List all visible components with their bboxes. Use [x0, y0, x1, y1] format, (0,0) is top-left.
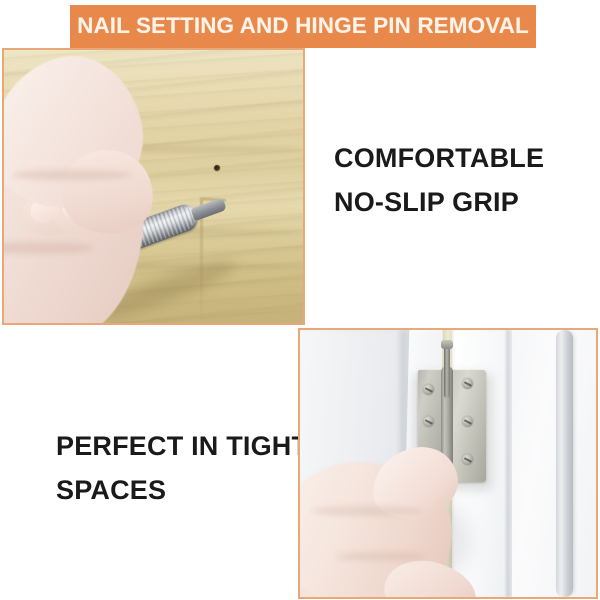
- feature-line-1: COMFORTABLE: [334, 136, 584, 180]
- feature-line-2: SPACES: [56, 468, 306, 512]
- hand-holding-tool: [4, 52, 204, 323]
- hinge-screw: [462, 416, 473, 427]
- banner-title-text: NAIL SETTING AND HINGE PIN REMOVAL: [77, 15, 529, 38]
- skin-crease: [312, 506, 422, 516]
- hinge-screw: [423, 416, 434, 427]
- infographic-page: NAIL SETTING AND HINGE PIN REMOVAL: [0, 0, 600, 600]
- title-banner: NAIL SETTING AND HINGE PIN REMOVAL: [70, 5, 536, 48]
- feature-text-comfortable-grip: COMFORTABLE NO-SLIP GRIP: [334, 136, 584, 224]
- door-bead-moulding: [556, 330, 573, 597]
- hinge-screw: [423, 384, 434, 395]
- nail-hole: [214, 165, 220, 171]
- feature-text-tight-spaces: PERFECT IN TIGHT SPACES: [56, 424, 306, 512]
- hinge-pin-head: [441, 340, 453, 349]
- photo-nail-setting-content: [4, 50, 303, 323]
- feature-line-2: NO-SLIP GRIP: [334, 180, 584, 224]
- photo-hinge-pin: [298, 328, 598, 599]
- hand-using-punch: [300, 448, 486, 597]
- hinge-pin: [444, 344, 450, 398]
- skin-crease: [12, 170, 132, 180]
- hinge-screw: [462, 378, 473, 389]
- skin-crease: [336, 552, 426, 561]
- feature-line-1: PERFECT IN TIGHT: [56, 424, 306, 468]
- photo-hinge-pin-content: [300, 330, 596, 597]
- door-right-panel: [512, 330, 596, 597]
- photo-nail-setting: [2, 48, 305, 325]
